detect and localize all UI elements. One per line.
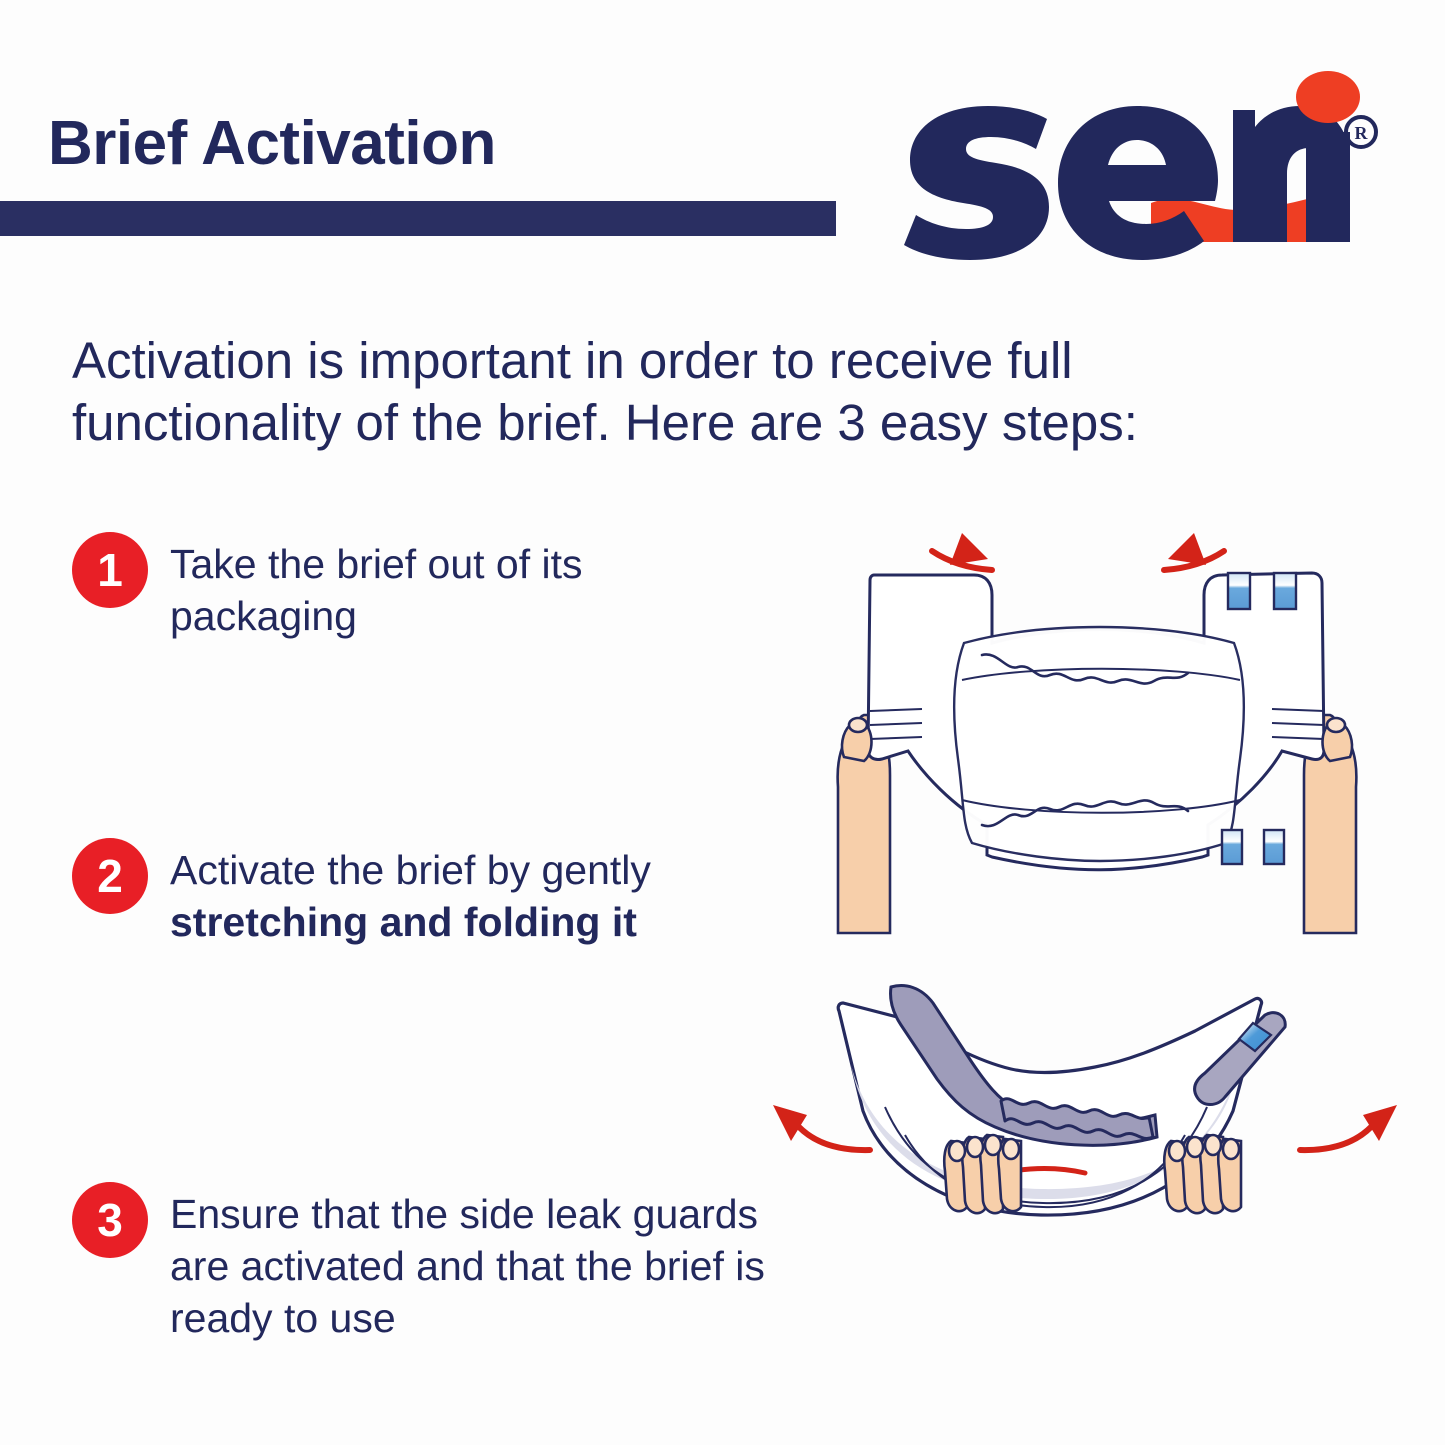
- step-text-1: Take the brief out of its packaging: [170, 532, 712, 642]
- step-text-3: Ensure that the side leak guards are act…: [170, 1182, 812, 1344]
- left-hand-fingers: [944, 1135, 1021, 1213]
- step-text-2: Activate the brief by gently stretching …: [170, 838, 712, 948]
- fastener-tab-bottom-right: [1264, 830, 1284, 864]
- fastener-tab-bottom-left: [1222, 830, 1242, 864]
- left-thumb: [842, 718, 872, 761]
- step-badge-1: 1: [72, 532, 148, 608]
- fastener-tab-top-left: [1228, 573, 1250, 609]
- brief-stretch-illustration: [812, 525, 1382, 935]
- page-title: Brief Activation: [48, 108, 496, 179]
- fastener-tab-top-right: [1274, 573, 1296, 609]
- intro-paragraph: Activation is important in order to rece…: [72, 330, 1322, 454]
- right-hand-fingers: [1164, 1135, 1241, 1213]
- step-item-2: 2 Activate the brief by gently stretchin…: [72, 838, 712, 948]
- title-underline-bar: [0, 201, 836, 236]
- step-item-1: 1 Take the brief out of its packaging: [72, 532, 712, 642]
- poster-root: Brief Activation R Activati: [0, 0, 1445, 1445]
- brief-fold-illustration: [755, 975, 1415, 1275]
- svg-text:R: R: [1355, 123, 1369, 143]
- header: Brief Activation R: [0, 0, 1445, 300]
- step-badge-3: 3: [72, 1182, 148, 1258]
- step-badge-2: 2: [72, 838, 148, 914]
- right-thumb: [1323, 718, 1353, 761]
- step-item-3: 3 Ensure that the side leak guards are a…: [72, 1182, 812, 1344]
- seni-logo: R: [888, 70, 1378, 260]
